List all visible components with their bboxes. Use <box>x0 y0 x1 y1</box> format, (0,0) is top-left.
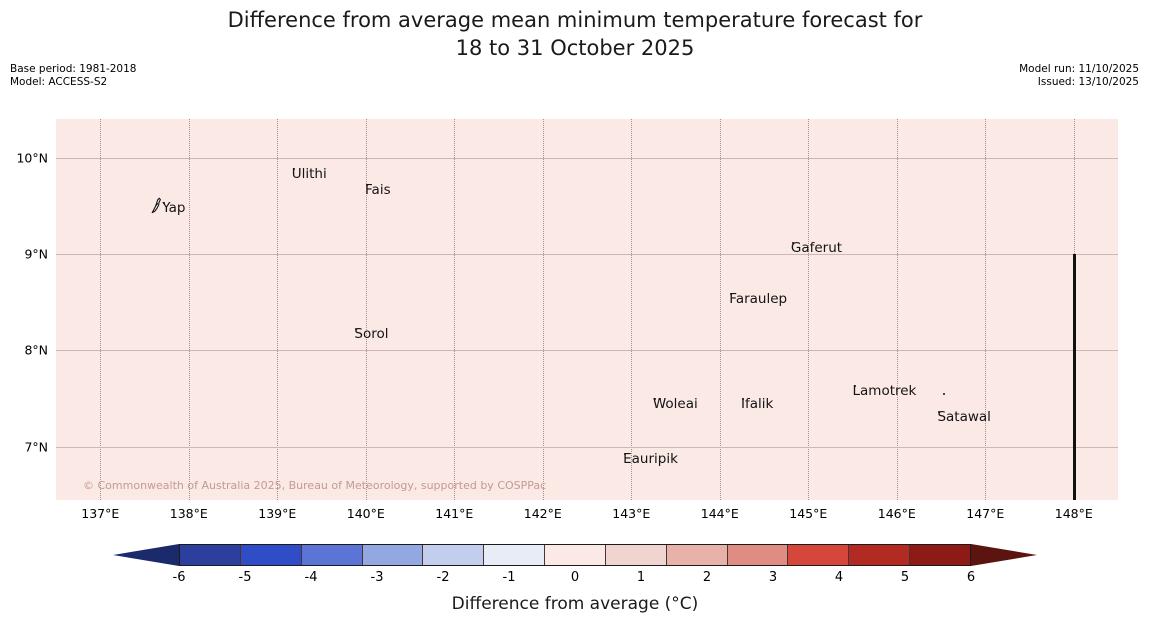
colorbar-tick-label: 4 <box>835 570 843 585</box>
place-label: Faraulep <box>729 292 787 306</box>
x-tick-label: 148°E <box>1055 506 1093 521</box>
place-marker-dot <box>659 398 661 400</box>
gridline-horizontal <box>56 254 1118 255</box>
place-marker-dot <box>624 453 626 455</box>
base-period-text: Base period: 1981-2018 <box>10 63 136 76</box>
map-plot-area[interactable]: UlithiFaisYapGaferutFaraulepSorolWoleaiI… <box>56 119 1118 500</box>
place-label: Ifalik <box>741 397 773 411</box>
y-tick-label: 8°N <box>24 343 48 358</box>
colorbar-tick-label: -2 <box>437 570 450 585</box>
gridline-vertical <box>985 119 986 500</box>
colorbar-tick-label: -5 <box>239 570 252 585</box>
colorbar-segment <box>484 545 545 565</box>
colorbar-tick-label: -1 <box>503 570 516 585</box>
colorbar-segment <box>241 545 302 565</box>
gridline-vertical <box>897 119 898 500</box>
gridline-horizontal <box>56 350 1118 351</box>
x-tick-label: 139°E <box>258 506 296 521</box>
x-tick-label: 143°E <box>612 506 650 521</box>
place-label: Ulithi <box>292 167 327 181</box>
x-tick-label: 144°E <box>701 506 739 521</box>
model-run-text: Model run: 11/10/2025 <box>1019 63 1139 76</box>
colorbar-segment <box>363 545 424 565</box>
place-label: Eauripik <box>623 452 678 466</box>
place-label: Gaferut <box>791 241 842 255</box>
gridline-vertical <box>277 119 278 500</box>
colorbar-segment <box>423 545 484 565</box>
colorbar-segment <box>667 545 728 565</box>
y-tick-label: 7°N <box>24 439 48 454</box>
x-tick-label: 140°E <box>347 506 385 521</box>
x-tick-label: 138°E <box>170 506 208 521</box>
x-tick-label: 146°E <box>878 506 916 521</box>
colorbar[interactable] <box>113 544 1037 566</box>
place-marker-dot <box>366 184 368 186</box>
colorbar-segments <box>179 544 971 566</box>
place-label: Satawal <box>937 410 990 424</box>
place-label: Fais <box>365 183 391 197</box>
place-marker-dot <box>654 398 656 400</box>
place-marker-dot <box>293 168 295 170</box>
gridline-vertical <box>189 119 190 500</box>
gridline-vertical <box>454 119 455 500</box>
colorbar-segment <box>910 545 970 565</box>
gridline-vertical <box>631 119 632 500</box>
copyright-text: © Commonwealth of Australia 2025, Bureau… <box>83 479 546 492</box>
colorbar-tick-label: 1 <box>637 570 645 585</box>
place-marker-dot <box>792 242 794 244</box>
issued-text: Issued: 13/10/2025 <box>1019 76 1139 89</box>
colorbar-segment <box>302 545 363 565</box>
eez-boundary-line <box>1073 254 1076 500</box>
gridline-vertical <box>100 119 101 500</box>
metadata-left: Base period: 1981-2018 Model: ACCESS-S2 <box>10 63 136 89</box>
x-tick-label: 145°E <box>789 506 827 521</box>
x-tick-label: 141°E <box>435 506 473 521</box>
colorbar-tick-label: -6 <box>173 570 186 585</box>
colorbar-segment <box>728 545 789 565</box>
model-text: Model: ACCESS-S2 <box>10 76 136 89</box>
gridline-horizontal <box>56 158 1118 159</box>
x-tick-label: 147°E <box>966 506 1004 521</box>
colorbar-segment <box>606 545 667 565</box>
gridline-vertical <box>720 119 721 500</box>
colorbar-tick-label: -4 <box>305 570 318 585</box>
y-tick-label: 9°N <box>24 247 48 262</box>
place-label: Sorol <box>354 327 388 341</box>
colorbar-under-arrow <box>113 544 179 566</box>
colorbar-tick-label: 5 <box>901 570 909 585</box>
y-tick-label: 10°N <box>16 150 48 165</box>
colorbar-tick-label: 6 <box>967 570 975 585</box>
gridline-vertical <box>543 119 544 500</box>
colorbar-segment <box>180 545 241 565</box>
colorbar-tick-label: 3 <box>769 570 777 585</box>
place-marker-dot <box>943 393 945 395</box>
place-marker-dot <box>854 385 856 387</box>
colorbar-segment <box>545 545 606 565</box>
gridline-vertical <box>808 119 809 500</box>
colorbar-label: Difference from average (°C) <box>0 594 1150 614</box>
x-tick-label: 142°E <box>524 506 562 521</box>
page-title: Difference from average mean minimum tem… <box>0 6 1150 62</box>
colorbar-over-arrow <box>971 544 1037 566</box>
gridline-vertical <box>366 119 367 500</box>
metadata-right: Model run: 11/10/2025 Issued: 13/10/2025 <box>1019 63 1139 89</box>
x-tick-label: 137°E <box>81 506 119 521</box>
colorbar-tick-label: 0 <box>571 570 579 585</box>
gridline-horizontal <box>56 447 1118 448</box>
colorbar-tick-label: 2 <box>703 570 711 585</box>
colorbar-segment <box>849 545 910 565</box>
place-label: Lamotrek <box>853 384 917 398</box>
place-label: Yap <box>162 201 185 215</box>
colorbar-tick-label: -3 <box>371 570 384 585</box>
colorbar-segment <box>788 545 849 565</box>
